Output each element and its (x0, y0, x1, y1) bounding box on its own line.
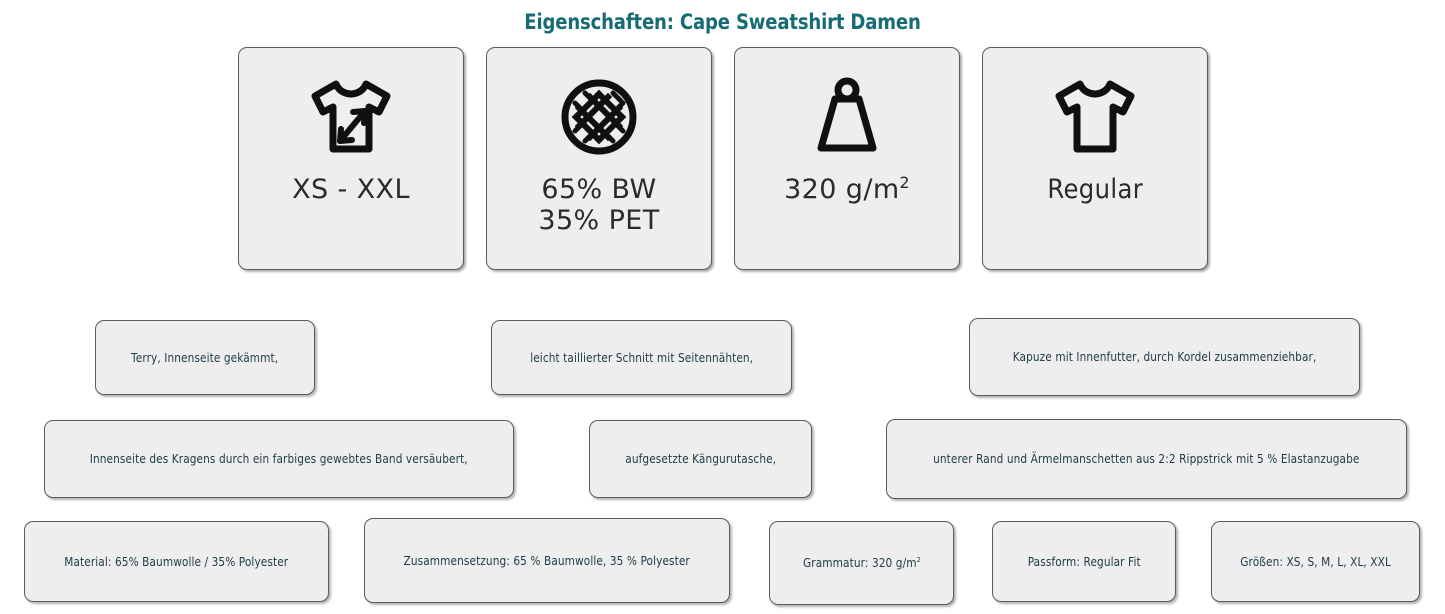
tshirt-icon (1047, 74, 1143, 160)
spec-pill-label-sup: 2 (916, 555, 920, 564)
feature-pill[interactable]: leicht taillierter Schnitt mit Seitennäh… (491, 320, 792, 395)
card-label-fabric: 65% BW 35% PET (538, 174, 659, 236)
card-label-size: XS - XXL (292, 174, 410, 205)
spec-pill[interactable]: Grammatur: 320 g/m2 (769, 521, 954, 605)
spec-pill-label: Material: 65% Baumwolle / 35% Polyester (65, 555, 289, 569)
spec-pill-label: Grammatur: 320 g/m2 (803, 556, 921, 570)
feature-pill-label: leicht taillierter Schnitt mit Seitennäh… (530, 351, 753, 365)
feature-pill[interactable]: Kapuze mit Innenfutter, durch Kordel zus… (969, 318, 1360, 396)
card-label-weight: 320 g/m2 (784, 174, 910, 205)
feature-pill[interactable]: unterer Rand und Ärmelmanschetten aus 2:… (886, 419, 1407, 499)
spec-pill-label: Größen: XS, S, M, L, XL, XXL (1240, 555, 1391, 569)
card-label-weight-text: 320 g/m (784, 174, 899, 205)
property-card-fit[interactable]: Regular (982, 47, 1208, 270)
card-label-fit: Regular (1047, 174, 1143, 205)
feature-pill-label: Kapuze mit Innenfutter, durch Kordel zus… (1013, 350, 1317, 364)
fabric-weave-icon (559, 74, 639, 160)
weight-icon (807, 74, 887, 160)
feature-pill-label: Innenseite des Kragens durch ein farbige… (90, 452, 468, 466)
tshirt-size-arrow-icon (303, 74, 399, 160)
card-label-weight-sup: 2 (900, 173, 910, 192)
property-card-fabric[interactable]: 65% BW 35% PET (486, 47, 712, 270)
spec-pill[interactable]: Passform: Regular Fit (992, 521, 1176, 602)
spec-pill-label: Zusammensetzung: 65 % Baumwolle, 35 % Po… (404, 554, 690, 568)
property-card-size[interactable]: XS - XXL (238, 47, 464, 270)
spec-pill-label: Passform: Regular Fit (1028, 555, 1141, 569)
property-card-weight[interactable]: 320 g/m2 (734, 47, 960, 270)
feature-pill[interactable]: aufgesetzte Kängurutasche, (589, 420, 812, 498)
page-title: Eigenschaften: Cape Sweatshirt Damen (101, 10, 1344, 34)
feature-pill[interactable]: Innenseite des Kragens durch ein farbige… (44, 420, 514, 498)
spec-pill[interactable]: Zusammensetzung: 65 % Baumwolle, 35 % Po… (364, 518, 730, 603)
spec-pill[interactable]: Größen: XS, S, M, L, XL, XXL (1211, 521, 1420, 602)
spec-pill[interactable]: Material: 65% Baumwolle / 35% Polyester (24, 521, 329, 602)
feature-pill-label: aufgesetzte Kängurutasche, (625, 452, 776, 466)
feature-pill-label: Terry, Innenseite gekämmt, (131, 351, 278, 365)
feature-pill-label: unterer Rand und Ärmelmanschetten aus 2:… (933, 452, 1359, 466)
feature-pill[interactable]: Terry, Innenseite gekämmt, (95, 320, 315, 395)
spec-pill-label-text: Grammatur: 320 g/m (803, 556, 917, 570)
